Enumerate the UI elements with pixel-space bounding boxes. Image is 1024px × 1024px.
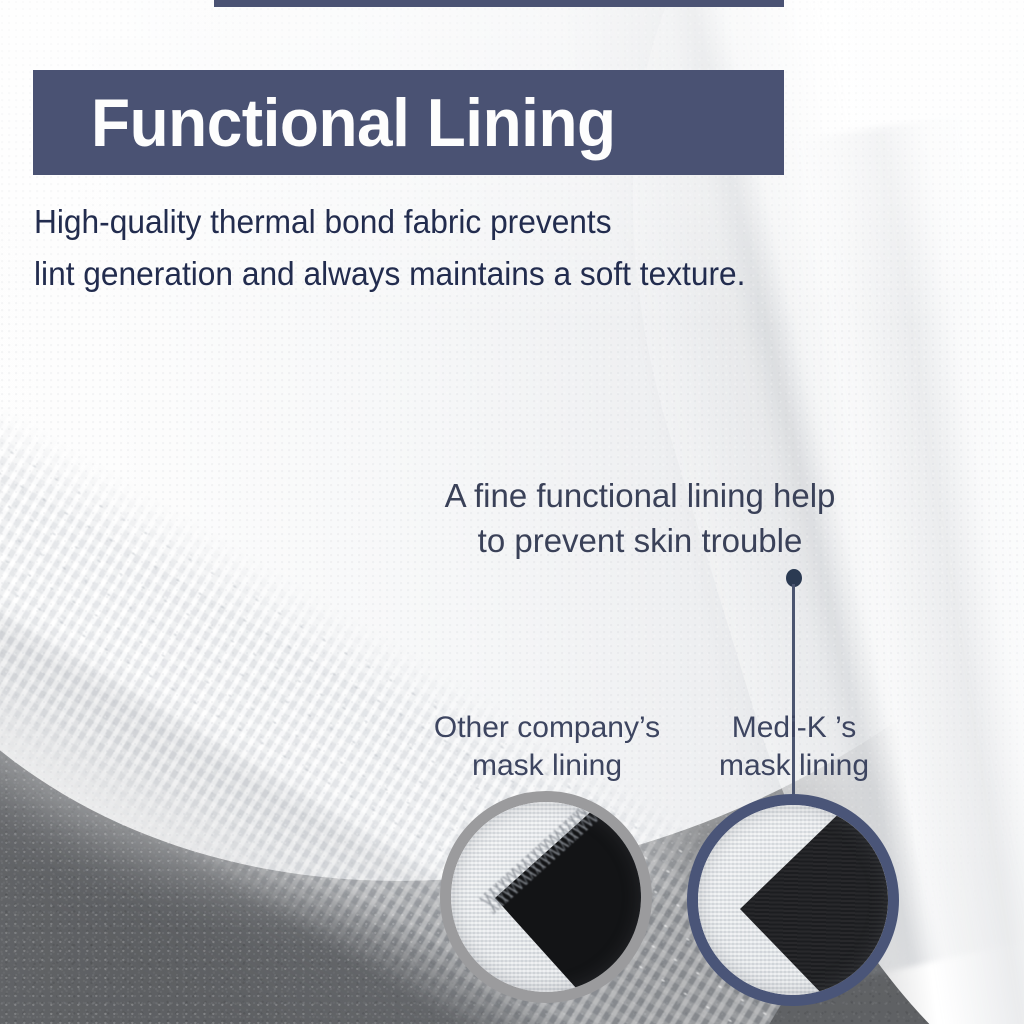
page-title: Functional Lining (91, 84, 616, 162)
callout-line-1: A fine functional lining help (320, 473, 960, 518)
other-circle-inner-shadow (451, 802, 641, 992)
subtitle-line-2: lint generation and always maintains a s… (34, 248, 879, 300)
other-company-label-line-2: mask lining (382, 747, 712, 785)
callout-text: A fine functional lining help to prevent… (320, 473, 960, 563)
other-company-lining-closeup (440, 791, 652, 1003)
subtitle-line-1: High-quality thermal bond fabric prevent… (34, 196, 879, 248)
title-banner: Functional Lining (33, 70, 784, 175)
callout-line-2: to prevent skin trouble (320, 518, 960, 563)
other-company-label-line-1: Other company’s (382, 709, 712, 747)
medik-lining-closeup (687, 794, 899, 1006)
medik-label-line-2: mask lining (678, 747, 910, 785)
medik-circle-inner-shadow (698, 805, 888, 995)
subtitle-block: High-quality thermal bond fabric prevent… (34, 196, 879, 300)
cropped-banner-edge (214, 0, 784, 7)
other-company-label: Other company’s mask lining (382, 709, 712, 785)
medik-label: Medi-K ’s mask lining (678, 709, 910, 785)
medik-label-line-1: Medi-K ’s (678, 709, 910, 747)
product-infographic: Functional Lining High-quality thermal b… (0, 0, 1024, 1024)
